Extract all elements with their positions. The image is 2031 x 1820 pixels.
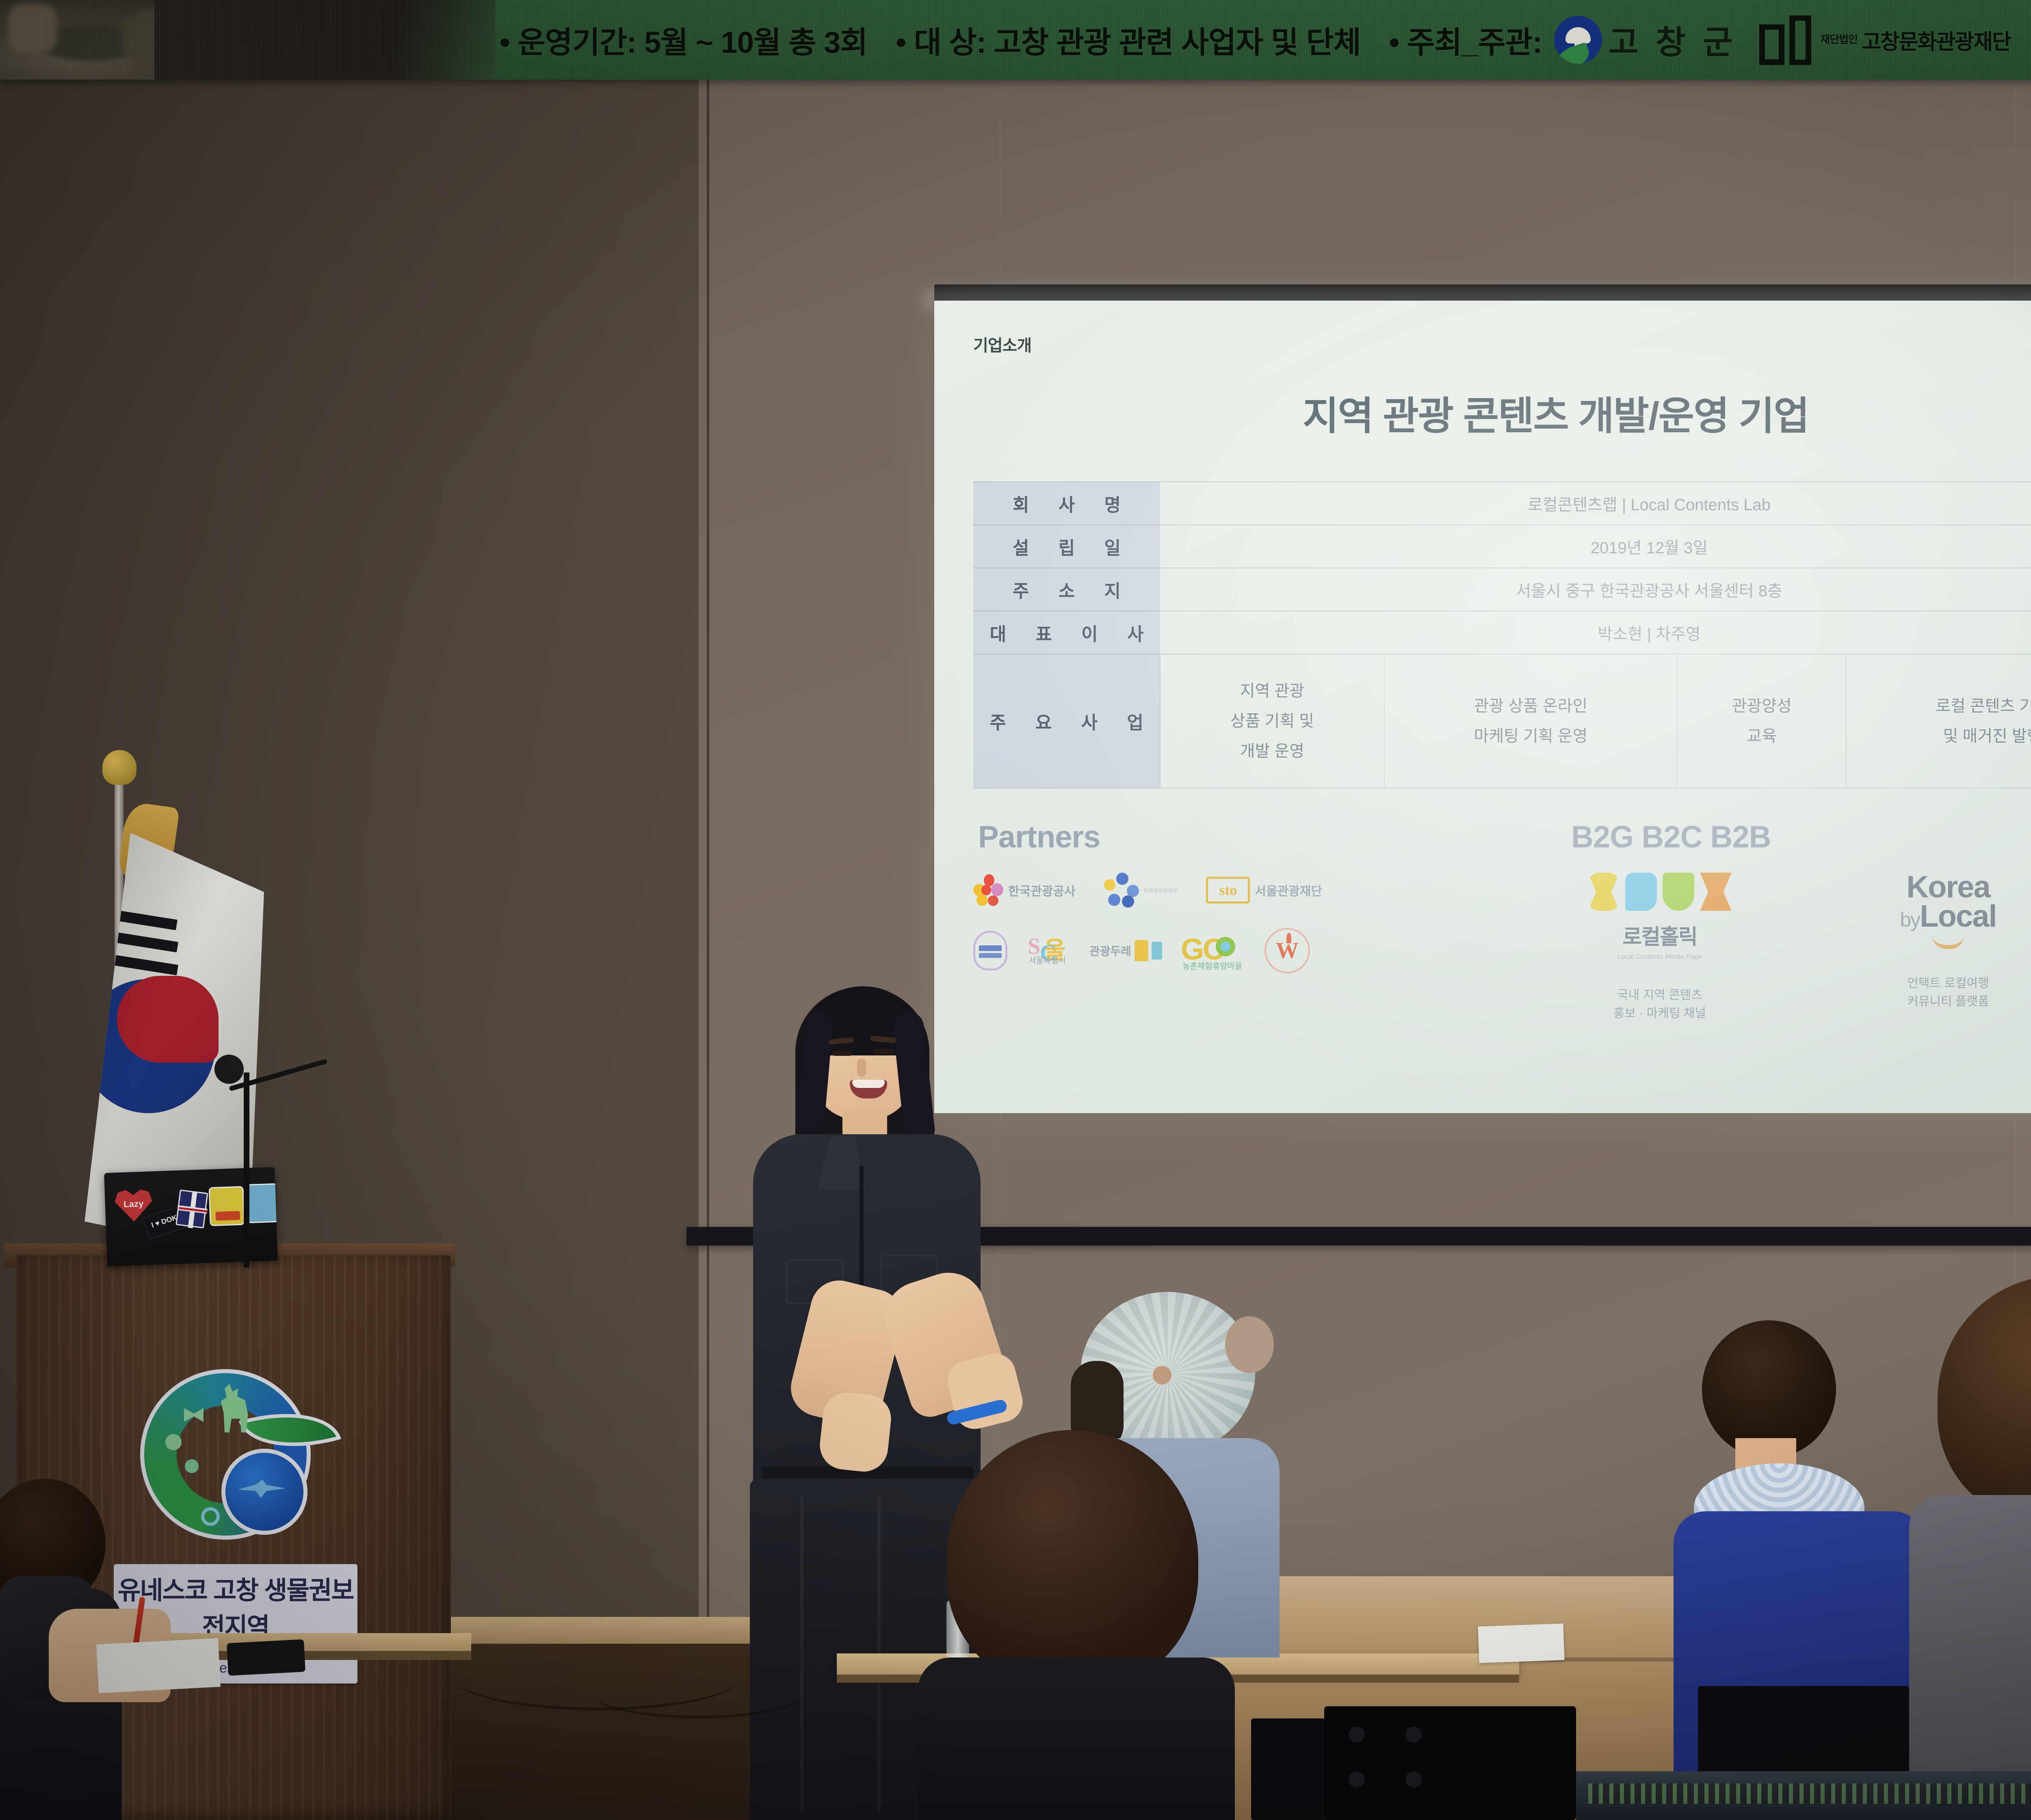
row-value: 서울시 중구 한국관광공사 서울센터 8층 — [1160, 568, 2031, 611]
gochang-county-logo-icon — [1554, 16, 1602, 64]
partner-name: 서울특별시 — [1028, 956, 1066, 965]
kbl-by: by — [1900, 908, 1920, 931]
row-label: 주 소 지 — [973, 568, 1160, 611]
presenter-hand-left — [818, 1390, 894, 1474]
table-row: 주 소 지 서울시 중구 한국관광공사 서울센터 8층 — [973, 568, 2031, 611]
banner-host-text: • 주최_주관: — [1389, 18, 1542, 62]
row-value: 2019년 12월 3일 — [1160, 525, 2031, 568]
kto-logo-icon — [973, 874, 1003, 906]
table-row: 대 표 이 사 박소현 | 차주영 — [973, 611, 2031, 654]
banner-text-row: • 운영기간: 5월 ~ 10월 총 3회 • 대 상: 고창 관광 관련 사업… — [500, 15, 2011, 64]
slide-title: 지역 관광 콘텐츠 개발/운영 기업 — [973, 384, 2031, 441]
b2-logo-column: 로컬홀릭 Local Contents Media Page 국내 지역 콘텐츠… — [1493, 873, 2031, 1023]
foundation-prefix: 재단법인 — [1820, 34, 1858, 45]
section-headings: Partners B2G B2C B2B — [973, 819, 2031, 855]
partners-heading: Partners — [978, 819, 1498, 855]
partner-name: 문화체육관광부 — [1144, 886, 1178, 894]
kbl-line2: byLocal — [1900, 902, 1996, 931]
kbl-line1: Korea — [1906, 873, 1990, 902]
partners-logo-line-2: S울C 서울특별시 관광두레 GO 농촌체험휴양마을 W — [973, 928, 1493, 973]
localholic-name: 로컬홀릭 — [1622, 920, 1697, 950]
foundation-name: 고창문화관광재단 — [1862, 25, 2011, 55]
table-row: 설 립 일 2019년 12월 3일 — [973, 525, 2031, 568]
business-label: 주 요 사 업 — [973, 654, 1160, 788]
koreabylocal-logo-icon: Korea byLocal — [1900, 873, 1996, 949]
table-row: 회 사 명 로컬콘텐츠랩 | Local Contents Lab — [973, 482, 2031, 525]
sto-logo-icon: sto — [1206, 877, 1250, 903]
kbl-smile-icon — [1932, 935, 1964, 949]
slide-content: 기업소개 지역 관광 콘텐츠 개발/운영 기업 회 사 명 로컬콘텐츠랩 | L… — [934, 301, 2031, 1113]
lazy-sticker-label: Lazy — [117, 1198, 150, 1210]
row-label: 설 립 일 — [973, 525, 1160, 568]
audience-member-front-left — [894, 1430, 1259, 1820]
podium-mic-head-icon — [214, 1055, 244, 1084]
flag-finial-icon — [102, 750, 136, 785]
unesco-biosphere-emblem: 유네스코 고창 생물권보전지역 UNESCO Gochang Biosphere… — [110, 1369, 362, 1629]
b2-item-localholic: 로컬홀릭 Local Contents Media Page 국내 지역 콘텐츠… — [1546, 873, 1773, 1023]
union-jack-sticker — [175, 1189, 208, 1228]
sticker-laptop[interactable]: Lazy I ♥ DOKDO — [104, 1167, 278, 1267]
row-value: 로컬콘텐츠랩 | Local Contents Lab — [1160, 482, 2031, 525]
partner-logo-sto: sto 서울관광재단 — [1206, 877, 1322, 903]
business-cell: 지역 관광 상품 기획 및 개발 운영 — [1160, 654, 1384, 788]
b2-heading: B2G B2C B2B — [1498, 819, 2031, 855]
row-value: 박소현 | 차주영 — [1160, 611, 2031, 654]
banner-target-text: • 대 상: 고창 관광 관련 사업자 및 단체 — [896, 18, 1360, 62]
localholic-logo-icon — [1588, 873, 1732, 911]
podium-mic-stand — [244, 1072, 249, 1267]
b2-item-koreabylocal: Korea byLocal 언택트 로컬여행 커뮤니티 플랫폼 — [1834, 873, 2031, 1023]
gochang-county-name: 고 창 군 — [1609, 16, 1737, 63]
localholic-tagline: Local Contents Media Page — [1617, 953, 1702, 961]
partners-logo-line-1: 한국관광공사 문화체육관광부 sto 서울관광재단 — [973, 873, 1493, 908]
company-info-table: 회 사 명 로컬콘텐츠랩 | Local Contents Lab 설 립 일 … — [973, 481, 2031, 789]
blue-sticker — [247, 1183, 278, 1224]
foreground-av-case — [1324, 1706, 1576, 1820]
localholic-caption: 국내 지역 콘텐츠 홍보 · 마케팅 채널 — [1613, 986, 1706, 1023]
row-label: 대 표 이 사 — [973, 611, 1160, 654]
smartphone[interactable] — [227, 1639, 305, 1676]
floor-cable — [593, 1670, 804, 1718]
unesco-biosphere-logo-icon — [140, 1369, 331, 1560]
business-cell: 관광 상품 온라인 마케팅 기획 운영 — [1384, 654, 1677, 788]
event-banner: • 운영기간: 5월 ~ 10월 총 3회 • 대 상: 고창 관광 관련 사업… — [0, 0, 2031, 80]
conference-room-scene: • 운영기간: 5월 ~ 10월 총 3회 • 대 상: 고창 관광 관련 사업… — [0, 0, 2031, 1820]
foundation-name-block: 재단법인 고창문화관광재단 — [1820, 25, 2010, 55]
partner-logo-gov: 문화체육관광부 — [1104, 873, 1178, 908]
banner-period-text: • 운영기간: 5월 ~ 10월 총 3회 — [500, 18, 867, 62]
partner-name: 서울관광재단 — [1255, 881, 1322, 899]
table-row-business: 주 요 사 업 지역 관광 상품 기획 및 개발 운영 관광 상품 온라인 마케… — [973, 654, 2031, 788]
business-cell: 관광양성 교육 — [1677, 654, 1846, 788]
partner-name: 한국관광공사 — [1008, 881, 1076, 899]
banner-photo-strip — [0, 0, 252, 80]
row-label: 회 사 명 — [973, 482, 1160, 525]
women-enterprise-icon: W — [1265, 928, 1310, 973]
banner-dark-overlay — [154, 0, 496, 80]
business-cell: 로컬 콘텐츠 기획 및 매거진 발행 — [1846, 654, 2031, 788]
paper-sheet — [1478, 1623, 1564, 1663]
tourdure-icon: 관광두레 — [1089, 940, 1162, 961]
partner-logo-kto: 한국관광공사 — [973, 874, 1076, 906]
partner-name: 관광두레 — [1089, 942, 1131, 959]
go-rural-icon: GO 농촌체험휴양마을 — [1181, 932, 1246, 969]
foreground-mixer-strip — [1576, 1771, 2031, 1820]
audience-member-curly — [1893, 1276, 2031, 1820]
note-paper — [96, 1638, 221, 1693]
slide-kicker: 기업소개 — [973, 332, 2031, 356]
koreabylocal-caption: 언택트 로컬여행 커뮤니티 플랫폼 — [1907, 974, 1989, 1011]
gochang-foundation-logo-icon — [1759, 15, 1811, 64]
logos-row: 한국관광공사 문화체육관광부 sto 서울관광재단 — [973, 873, 2031, 1023]
projection-screen: 기업소개 지역 관광 콘텐츠 개발/운영 기업 회 사 명 로컬콘텐츠랩 | L… — [934, 301, 2031, 1113]
kbl-local: Local — [1920, 899, 1996, 934]
visit-korea-badge-icon — [973, 931, 1007, 971]
korea-gov-flower-icon — [1104, 873, 1139, 908]
seoul-city-icon: S울C 서울특별시 — [1026, 931, 1071, 970]
bart-simpson-sticker — [208, 1186, 245, 1226]
partner-name: 농촌체험휴양마을 — [1182, 960, 1242, 971]
